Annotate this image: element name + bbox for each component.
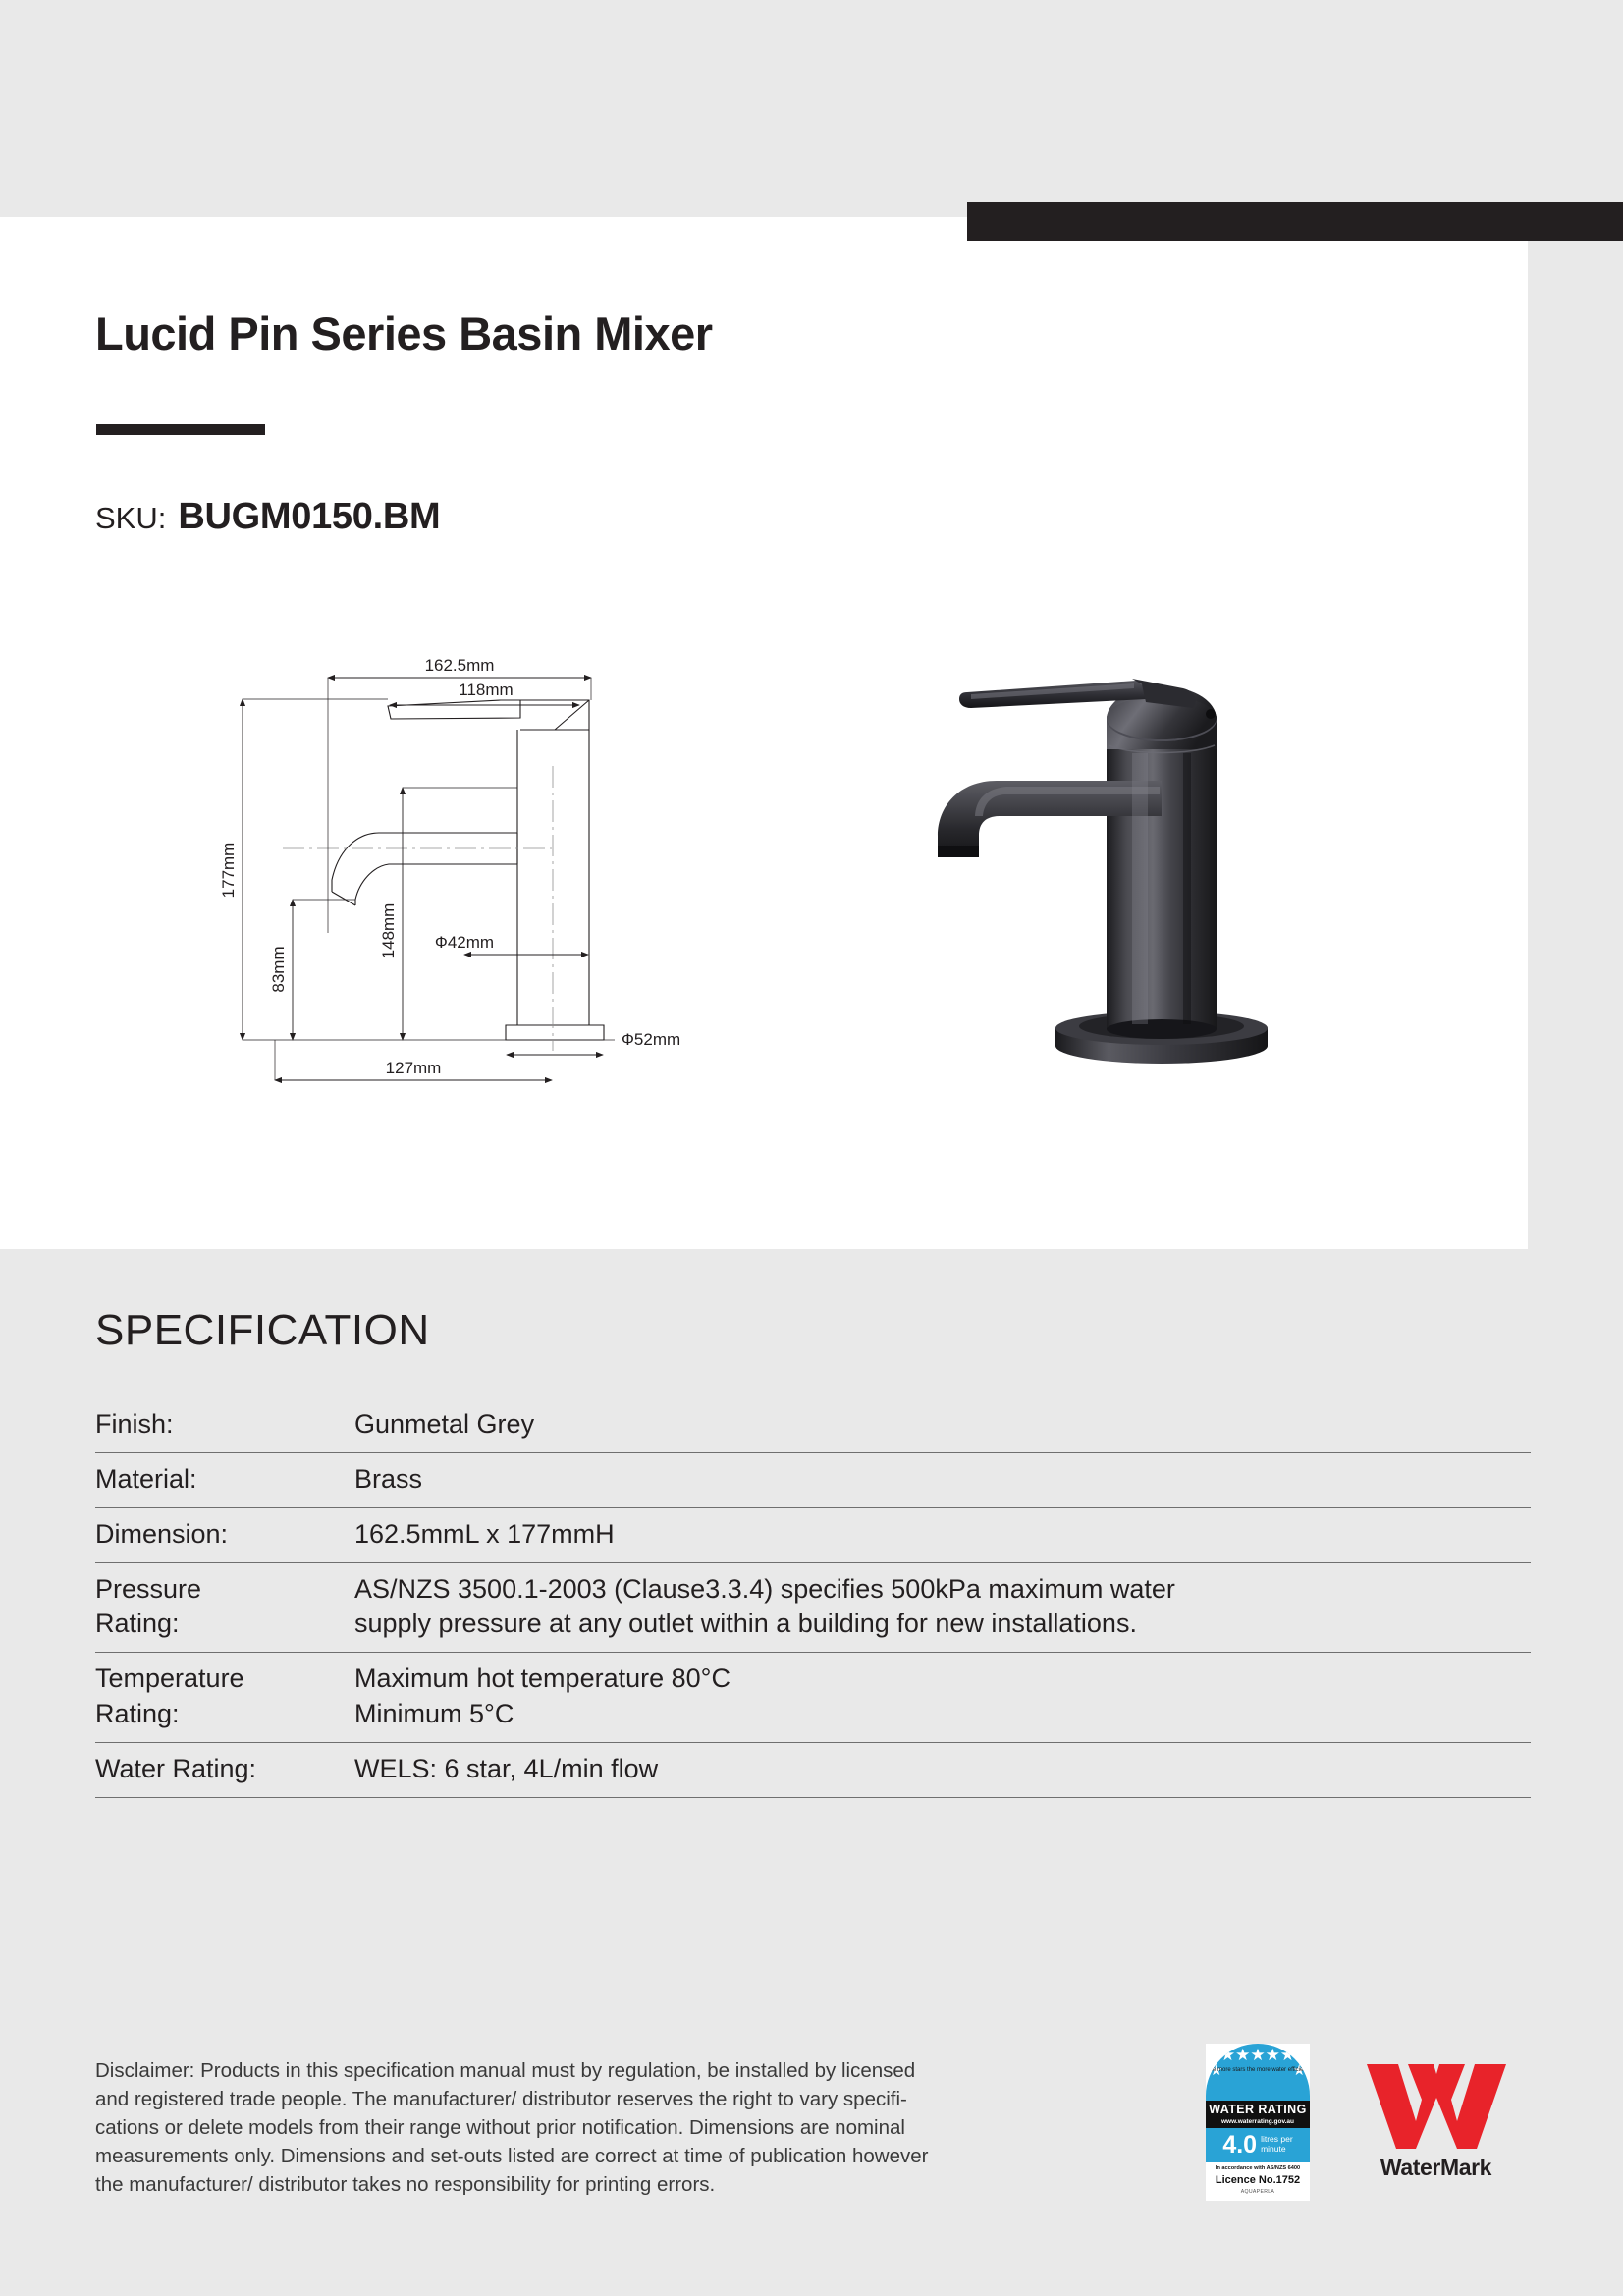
wels-brand: AQUAPERLA	[1206, 2189, 1310, 2195]
wels-unit-line1: litres per	[1261, 2134, 1293, 2144]
wels-star-arc: ★★★★★ ★★ The more stars the more water e…	[1206, 2044, 1310, 2101]
spec-value-temperature-line2: Minimum 5°C	[354, 1697, 1531, 1731]
watermark-logo: WaterMark	[1355, 2058, 1517, 2186]
wels-footer-block: In accordance with AS/NZS 6400 Licence N…	[1206, 2162, 1310, 2195]
wels-licence: Licence No.1752	[1206, 2174, 1310, 2186]
sku-label: SKU:	[95, 501, 166, 536]
dim-body-diameter: Ф42mm	[435, 933, 494, 952]
dim-handle-reach: 118mm	[459, 681, 513, 699]
table-row: Temperature Rating: Maximum hot temperat…	[95, 1653, 1531, 1742]
disclaimer-line-1: Disclaimer: Products in this specificati…	[95, 2056, 1165, 2085]
disclaimer-line-4: measurements only. Dimensions and set-ou…	[95, 2142, 1165, 2170]
disclaimer-line-5: the manufacturer/ distributor takes no r…	[95, 2170, 1165, 2199]
disclaimer-line-2: and registered trade people. The manufac…	[95, 2085, 1165, 2113]
spec-key-pressure-line2: Rating:	[95, 1607, 341, 1641]
header-accent-bar	[967, 202, 1623, 241]
watermark-w-icon	[1363, 2058, 1510, 2153]
disclaimer-text: Disclaimer: Products in this specificati…	[95, 2056, 1165, 2200]
wels-website: www.waterrating.gov.au	[1206, 2118, 1310, 2125]
spec-value-dimension: 162.5mmL x 177mmH	[351, 1508, 1531, 1563]
sku-value: BUGM0150.BM	[178, 496, 440, 538]
spec-key-material: Material:	[95, 1453, 351, 1508]
spec-value-pressure-line1: AS/NZS 3500.1-2003 (Clause3.3.4) specifi…	[354, 1572, 1531, 1607]
specification-heading: SPECIFICATION	[95, 1306, 430, 1355]
table-row: Water Rating: WELS: 6 star, 4L/min flow	[95, 1742, 1531, 1797]
spec-key-temperature-rating: Temperature Rating:	[95, 1653, 351, 1742]
dim-overall-height: 177mm	[219, 843, 238, 899]
spec-value-pressure-line2: supply pressure at any outlet within a b…	[354, 1607, 1531, 1641]
spec-key-finish: Finish:	[95, 1398, 351, 1453]
table-row: Pressure Rating: AS/NZS 3500.1-2003 (Cla…	[95, 1563, 1531, 1653]
spec-key-temperature-line1: Temperature	[95, 1662, 341, 1696]
wels-standard: In accordance with AS/NZS 6400	[1206, 2165, 1310, 2171]
spec-value-temperature-rating: Maximum hot temperature 80°C Minimum 5°C	[351, 1653, 1531, 1742]
wels-unit-line2: minute	[1261, 2144, 1286, 2154]
table-row: Finish: Gunmetal Grey	[95, 1398, 1531, 1453]
watermark-label: WaterMark	[1380, 2155, 1491, 2181]
spec-value-material: Brass	[351, 1453, 1531, 1508]
spec-key-temperature-line2: Rating:	[95, 1697, 341, 1731]
spec-key-pressure-line1: Pressure	[95, 1572, 341, 1607]
spec-value-finish: Gunmetal Grey	[351, 1398, 1531, 1453]
dim-overall-length: 162.5mm	[425, 656, 495, 675]
product-photo	[889, 643, 1301, 1095]
spec-value-water-rating: WELS: 6 star, 4L/min flow	[351, 1742, 1531, 1797]
spec-sheet-page: Lucid Pin Series Basin Mixer SKU: BUGM01…	[0, 0, 1623, 2296]
dim-spout-to-centre: 127mm	[386, 1059, 442, 1077]
wels-title-block: WATER RATING www.waterrating.gov.au	[1206, 2101, 1310, 2128]
sku-line: SKU: BUGM0150.BM	[95, 496, 440, 538]
dim-spout-height: 83mm	[269, 946, 288, 992]
water-rating-badge: ★★★★★ ★★ The more stars the more water e…	[1206, 2044, 1310, 2201]
spec-value-pressure-rating: AS/NZS 3500.1-2003 (Clause3.3.4) specifi…	[351, 1563, 1531, 1653]
table-row: Dimension: 162.5mmL x 177mmH	[95, 1508, 1531, 1563]
wels-stars-row: ★★★★★	[1206, 2047, 1310, 2063]
page-title: Lucid Pin Series Basin Mixer	[95, 308, 1273, 359]
disclaimer-line-3: cations or delete models from their rang…	[95, 2113, 1165, 2142]
specification-table: Finish: Gunmetal Grey Material: Brass Di…	[95, 1398, 1531, 1798]
spec-key-dimension: Dimension:	[95, 1508, 351, 1563]
wels-tagline: The more stars the more water efficient.	[1206, 2067, 1310, 2075]
wels-rating-block: 4.0 litres per minute	[1206, 2128, 1310, 2162]
spec-key-water-rating: Water Rating:	[95, 1742, 351, 1797]
wels-rating-unit: litres per minute	[1261, 2135, 1293, 2155]
spec-key-pressure-rating: Pressure Rating:	[95, 1563, 351, 1653]
dim-base-diameter: Ф52mm	[622, 1030, 680, 1049]
wels-rating-value: 4.0	[1222, 2133, 1257, 2158]
dim-body-height: 148mm	[379, 903, 398, 959]
title-underline-rule	[96, 424, 265, 435]
technical-drawing: 162.5mm 118mm 177mm 83mm	[187, 638, 717, 1100]
table-row: Material: Brass	[95, 1453, 1531, 1508]
spec-value-temperature-line1: Maximum hot temperature 80°C	[354, 1662, 1531, 1696]
wels-title: WATER RATING	[1206, 2104, 1310, 2117]
